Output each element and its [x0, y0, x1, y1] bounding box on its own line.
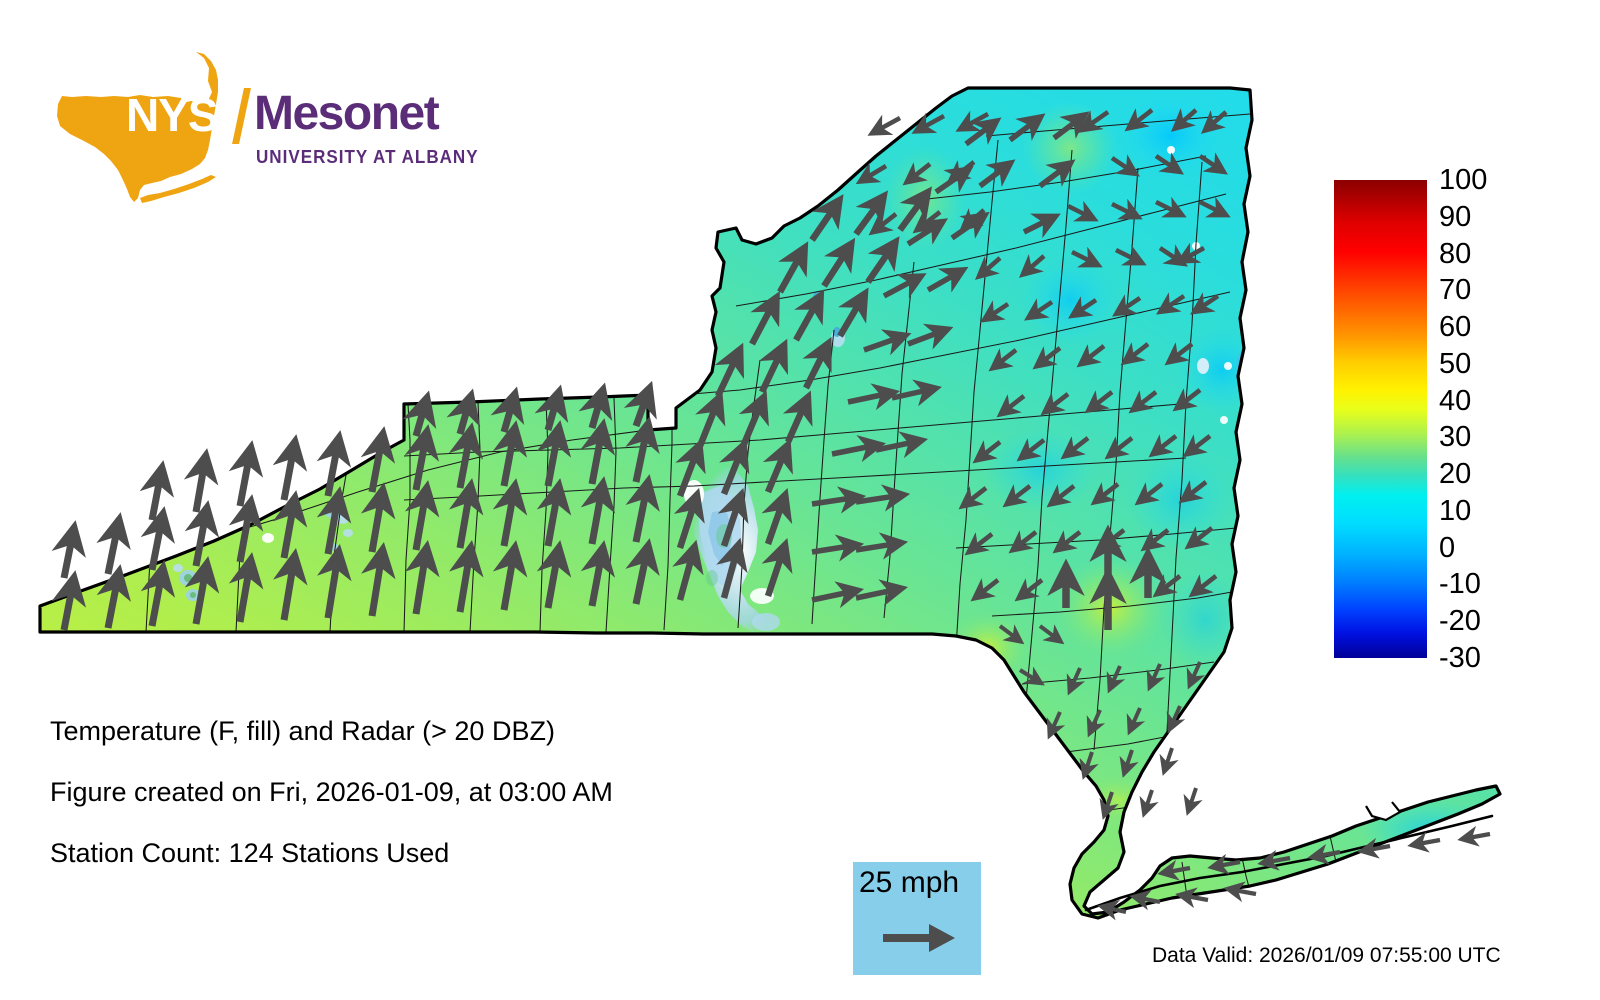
colorbar-tick--10: -10 [1439, 570, 1481, 599]
colorbar-tick-100: 100 [1439, 166, 1487, 195]
colorbar-gradient-strip [1334, 180, 1427, 658]
radar-echo-cell [190, 592, 196, 598]
radar-echo-cell [1224, 362, 1232, 370]
colorbar-tick-70: 70 [1439, 276, 1471, 305]
radar-echo-core [706, 570, 718, 586]
colorbar-tick-10: 10 [1439, 497, 1471, 526]
colorbar-tick-80: 80 [1439, 240, 1471, 269]
radar-echo-cell [1167, 146, 1175, 154]
colorbar-tick-40: 40 [1439, 387, 1471, 416]
arrow-right-icon [879, 918, 959, 958]
colorbar-tick-20: 20 [1439, 460, 1471, 489]
radar-echo-cell [184, 574, 192, 582]
colorbar-tick-30: 30 [1439, 423, 1471, 452]
colorbar-tick--30: -30 [1439, 644, 1481, 673]
colorbar-tick--20: -20 [1439, 607, 1481, 636]
radar-echo-cell [173, 564, 183, 572]
data-valid-timestamp: Data Valid: 2026/01/09 07:55:00 UTC [1152, 944, 1501, 968]
colorbar-tick-50: 50 [1439, 350, 1471, 379]
colorbar-tick-60: 60 [1439, 313, 1471, 342]
caption-title: Temperature (F, fill) and Radar (> 20 DB… [50, 716, 810, 747]
cold-anomaly [1020, 254, 1120, 346]
radar-echo-cell [1197, 358, 1209, 374]
radar-echo-cell [1220, 416, 1228, 424]
wind-key-label: 25 mph [859, 866, 959, 900]
colorbar-tick-90: 90 [1439, 203, 1471, 232]
warm-anomaly [1066, 770, 1170, 830]
caption-created: Figure created on Fri, 2026-01-09, at 03… [50, 777, 810, 808]
caption-block: Temperature (F, fill) and Radar (> 20 DB… [50, 716, 810, 899]
radar-echo-cell [343, 529, 353, 537]
radar-echo-cell [813, 291, 823, 305]
wind-speed-key: 25 mph [853, 862, 981, 975]
caption-station-count: Station Count: 124 Stations Used [50, 838, 810, 869]
temperature-colorbar: 1009080706050403020100-10-20-30 [1334, 180, 1574, 660]
colorbar-tick-0: 0 [1439, 534, 1455, 563]
radar-echo-cell [262, 533, 274, 543]
radar-echo-core [752, 613, 780, 631]
